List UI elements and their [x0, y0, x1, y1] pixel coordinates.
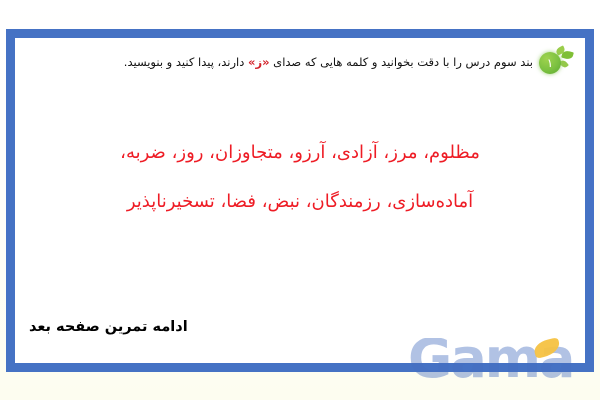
question-text-part1: بند سوم درس را با دقت بخوانید و کلمه های…	[270, 55, 533, 69]
question-number-badge: ۱	[539, 46, 575, 78]
question-text: بند سوم درس را با دقت بخوانید و کلمه های…	[25, 47, 533, 72]
answer-line: آماده‌سازی، رزمندگان، نبض، فضا، تسخیرناپ…	[15, 191, 585, 214]
content-inner: ۱ بند سوم درس را با دقت بخوانید و کلمه ه…	[15, 38, 585, 363]
slide-canvas: ۱ بند سوم درس را با دقت بخوانید و کلمه ه…	[0, 0, 600, 400]
question-number-label: ۱	[539, 52, 561, 74]
question-highlight-letter: «ز»	[248, 55, 269, 69]
question-row: ۱ بند سوم درس را با دقت بخوانید و کلمه ه…	[25, 47, 575, 78]
answer-line: مظلوم، مرز، آزادی، آرزو، متجاوزان، روز، …	[15, 142, 585, 165]
continuation-note: ادامه تمرین صفحه بعد	[29, 319, 188, 335]
content-frame: ۱ بند سوم درس را با دقت بخوانید و کلمه ه…	[6, 29, 594, 372]
question-text-part2: دارند، پیدا کنید و بنویسید.	[124, 55, 248, 69]
answer-list: مظلوم، مرز، آزادی، آرزو، متجاوزان، روز، …	[15, 142, 585, 239]
